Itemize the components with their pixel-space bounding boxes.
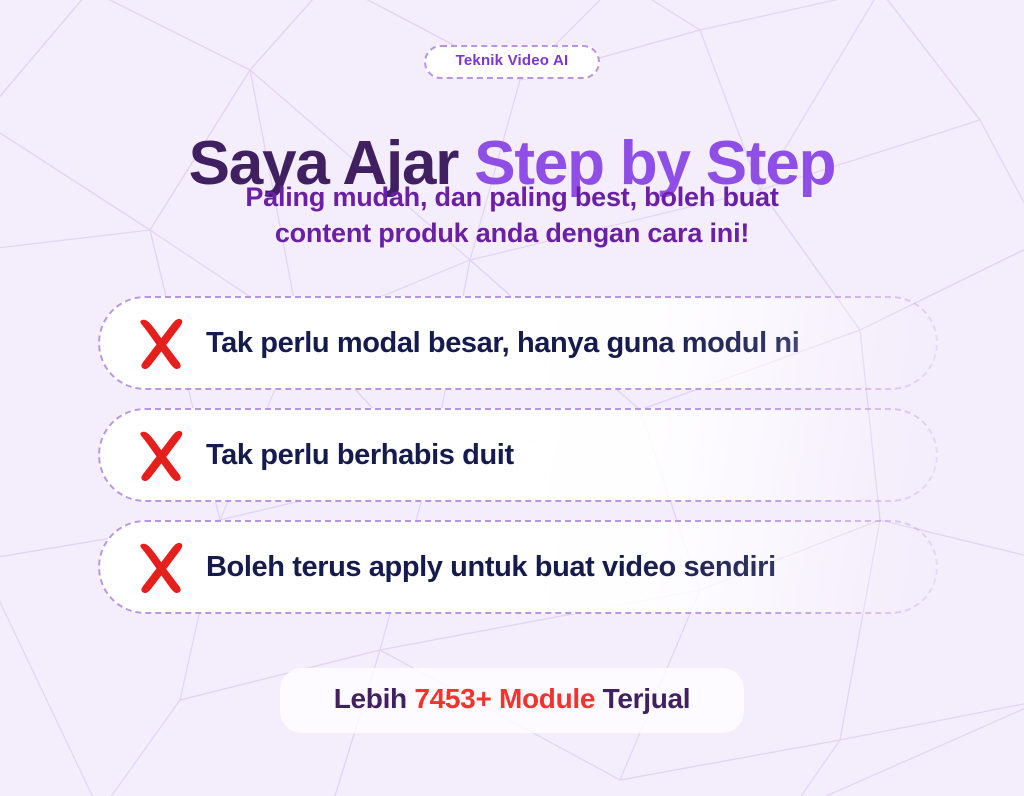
page-subtitle-line-2: content produk anda dengan cara ini!	[0, 215, 1024, 251]
sales-banner-suffix: Terjual	[603, 683, 691, 714]
sales-banner-prefix: Lebih	[334, 683, 407, 714]
page-subtitle-line-1: Paling mudah, dan paling best, boleh bua…	[0, 179, 1024, 215]
feature-card-label: Boleh terus apply untuk buat video sendi…	[206, 551, 776, 584]
feature-card[interactable]: Tak perlu berhabis duit	[98, 408, 938, 502]
page-subtitle: Paling mudah, dan paling best, boleh bua…	[0, 179, 1024, 251]
feature-card-label: Tak perlu modal besar, hanya guna modul …	[206, 327, 799, 360]
topic-badge[interactable]: Teknik Video AI	[424, 45, 601, 79]
feature-card[interactable]: Boleh terus apply untuk buat video sendi…	[98, 520, 938, 614]
feature-card-label: Tak perlu berhabis duit	[206, 439, 514, 472]
sales-banner-row: Lebih 7453+ Module Terjual	[0, 668, 1024, 733]
x-mark-icon	[124, 306, 198, 380]
badge-row: Teknik Video AI	[0, 45, 1024, 79]
x-mark-icon	[124, 530, 198, 604]
sales-banner-space-2	[595, 683, 602, 714]
x-mark-icon	[124, 418, 198, 492]
sales-banner: Lebih 7453+ Module Terjual	[280, 668, 745, 733]
feature-list: Tak perlu modal besar, hanya guna modul …	[98, 296, 938, 632]
feature-card[interactable]: Tak perlu modal besar, hanya guna modul …	[98, 296, 938, 390]
slide-canvas: Teknik Video AI Saya Ajar Step by Step P…	[0, 0, 1024, 796]
sales-banner-count: 7453+ Module	[414, 683, 595, 714]
